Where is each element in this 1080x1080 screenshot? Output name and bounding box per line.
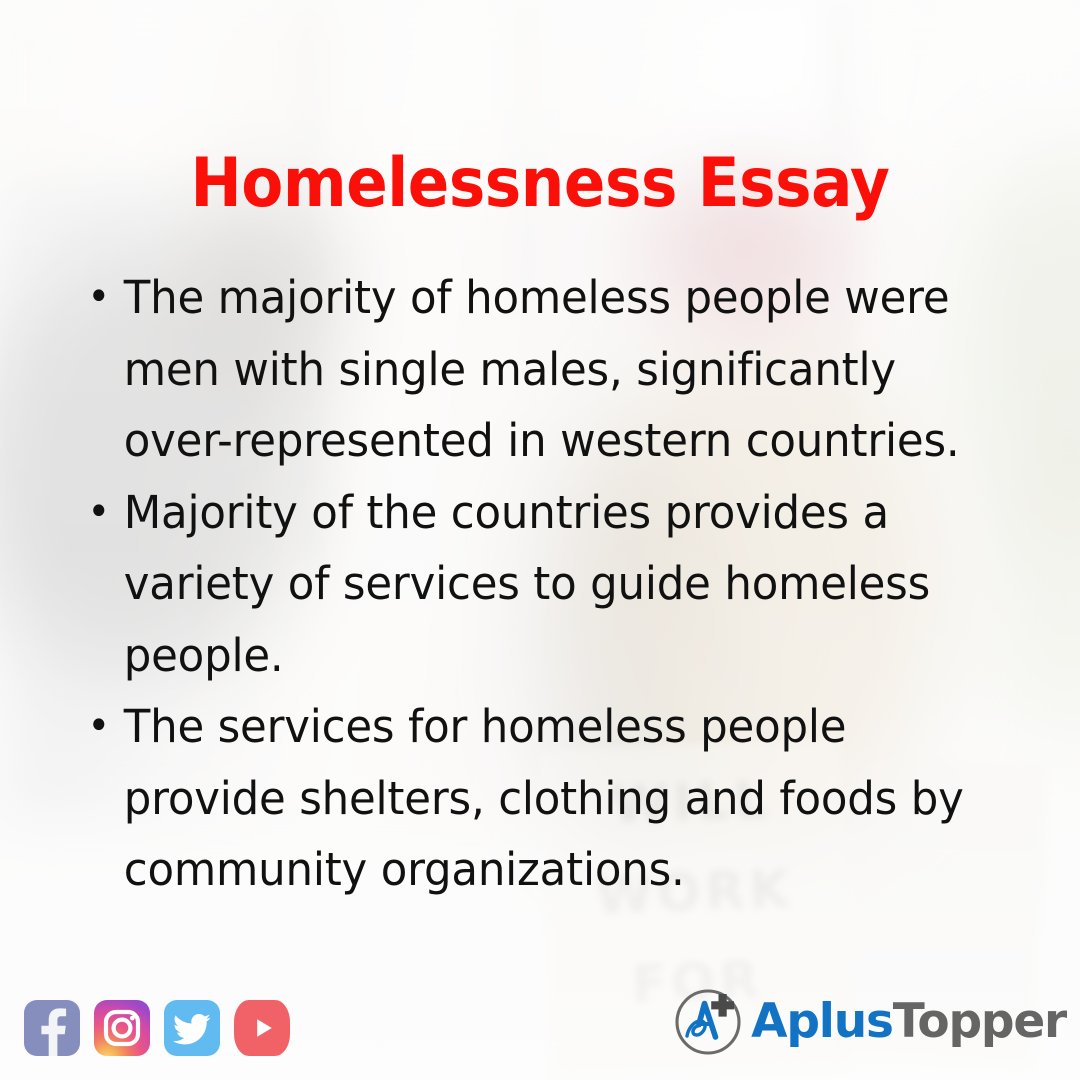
youtube-icon[interactable] — [234, 1000, 290, 1056]
list-item: The services for homeless people provide… — [76, 691, 993, 906]
essay-infographic-card: WILL WORK FOR Homelessness Essay The maj… — [0, 0, 1080, 1080]
twitter-icon[interactable] — [164, 1000, 220, 1056]
list-item: Majority of the countries provides a var… — [76, 477, 993, 692]
list-item: The majority of homeless people were men… — [76, 262, 993, 477]
brand-name-part2: Topper — [893, 994, 1066, 1049]
bullet-list: The majority of homeless people were men… — [76, 262, 1036, 906]
content-layer: Homelessness Essay The majority of homel… — [0, 0, 1080, 1080]
facebook-icon[interactable] — [24, 1000, 80, 1056]
social-links — [24, 1000, 290, 1056]
a-plus-circle-logo — [671, 984, 745, 1058]
page-title: Homelessness Essay — [54, 150, 1026, 218]
brand-name-part1: Aplus — [751, 994, 893, 1049]
brand-logo[interactable]: AplusTopper — [671, 984, 1066, 1058]
instagram-icon[interactable] — [94, 1000, 150, 1056]
brand-name: AplusTopper — [751, 998, 1066, 1045]
